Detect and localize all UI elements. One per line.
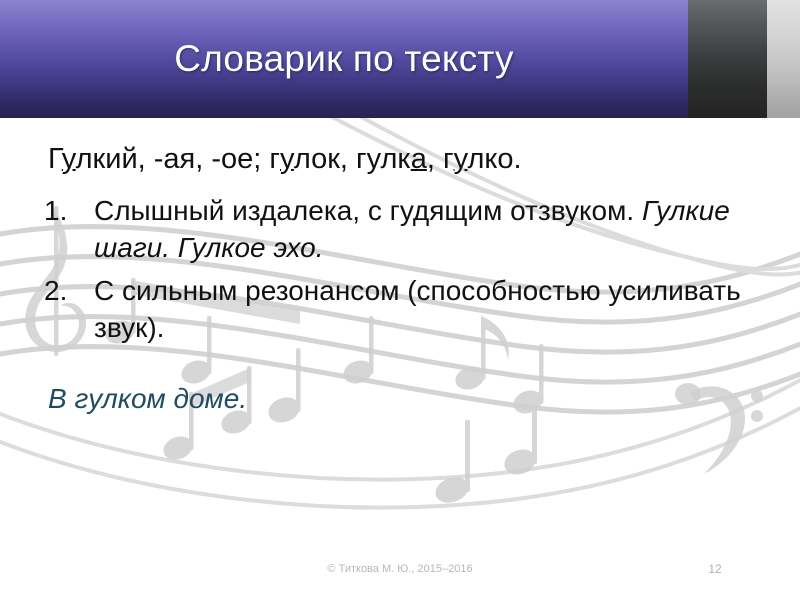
- headword-stress-2: у: [280, 143, 294, 175]
- footer-copyright: © Титкова М. Ю., 2015–2016: [0, 563, 800, 575]
- example-sentence: В гулком доме.: [48, 383, 247, 415]
- definition-number: 2.: [44, 273, 94, 310]
- definition-sense: Слышный издалека, с гудящим отзвуком.: [94, 195, 642, 226]
- definition-list: 1. Слышный издалека, с гудящим отзвуком.…: [44, 193, 774, 353]
- headword-part-pre: Г: [48, 143, 62, 175]
- slide-content: Гулкий, -ая, -ое; гулок, гулка, гулко. 1…: [0, 118, 800, 538]
- definition-text: С сильным резонансом (способностью усили…: [94, 273, 754, 347]
- definition-text: Слышный издалека, с гудящим отзвуком. Гу…: [94, 193, 754, 267]
- headword-stress-1: у: [62, 143, 76, 175]
- definition-sense: С сильным резонансом (способностью усили…: [94, 275, 741, 343]
- headword-part-mid3: , г: [427, 143, 454, 175]
- headword-part-mid1: лкий, -ая, -ое; г: [76, 143, 280, 175]
- header-band-light-gray: [767, 0, 800, 118]
- headword-part-post: лко.: [467, 143, 521, 175]
- definition-item: 1. Слышный издалека, с гудящим отзвуком.…: [44, 193, 774, 267]
- definition-item: 2. С сильным резонансом (способностью ус…: [44, 273, 774, 347]
- headword-stress-3: а: [411, 143, 427, 175]
- footer-page-number: 12: [700, 562, 730, 576]
- headword-stress-4: у: [454, 143, 468, 175]
- header-band-dark-gray: [688, 0, 767, 118]
- definition-number: 1.: [44, 193, 94, 230]
- slide-header: Словарик по тексту: [0, 0, 800, 118]
- headword-part-mid2: лок, гулк: [294, 143, 411, 175]
- headword-entry: Гулкий, -ая, -ое; гулок, гулка, гулко.: [48, 143, 522, 176]
- page-title: Словарик по тексту: [0, 0, 688, 118]
- slide: Словарик по тексту Гулкий, -ая, -ое; гул…: [0, 0, 800, 600]
